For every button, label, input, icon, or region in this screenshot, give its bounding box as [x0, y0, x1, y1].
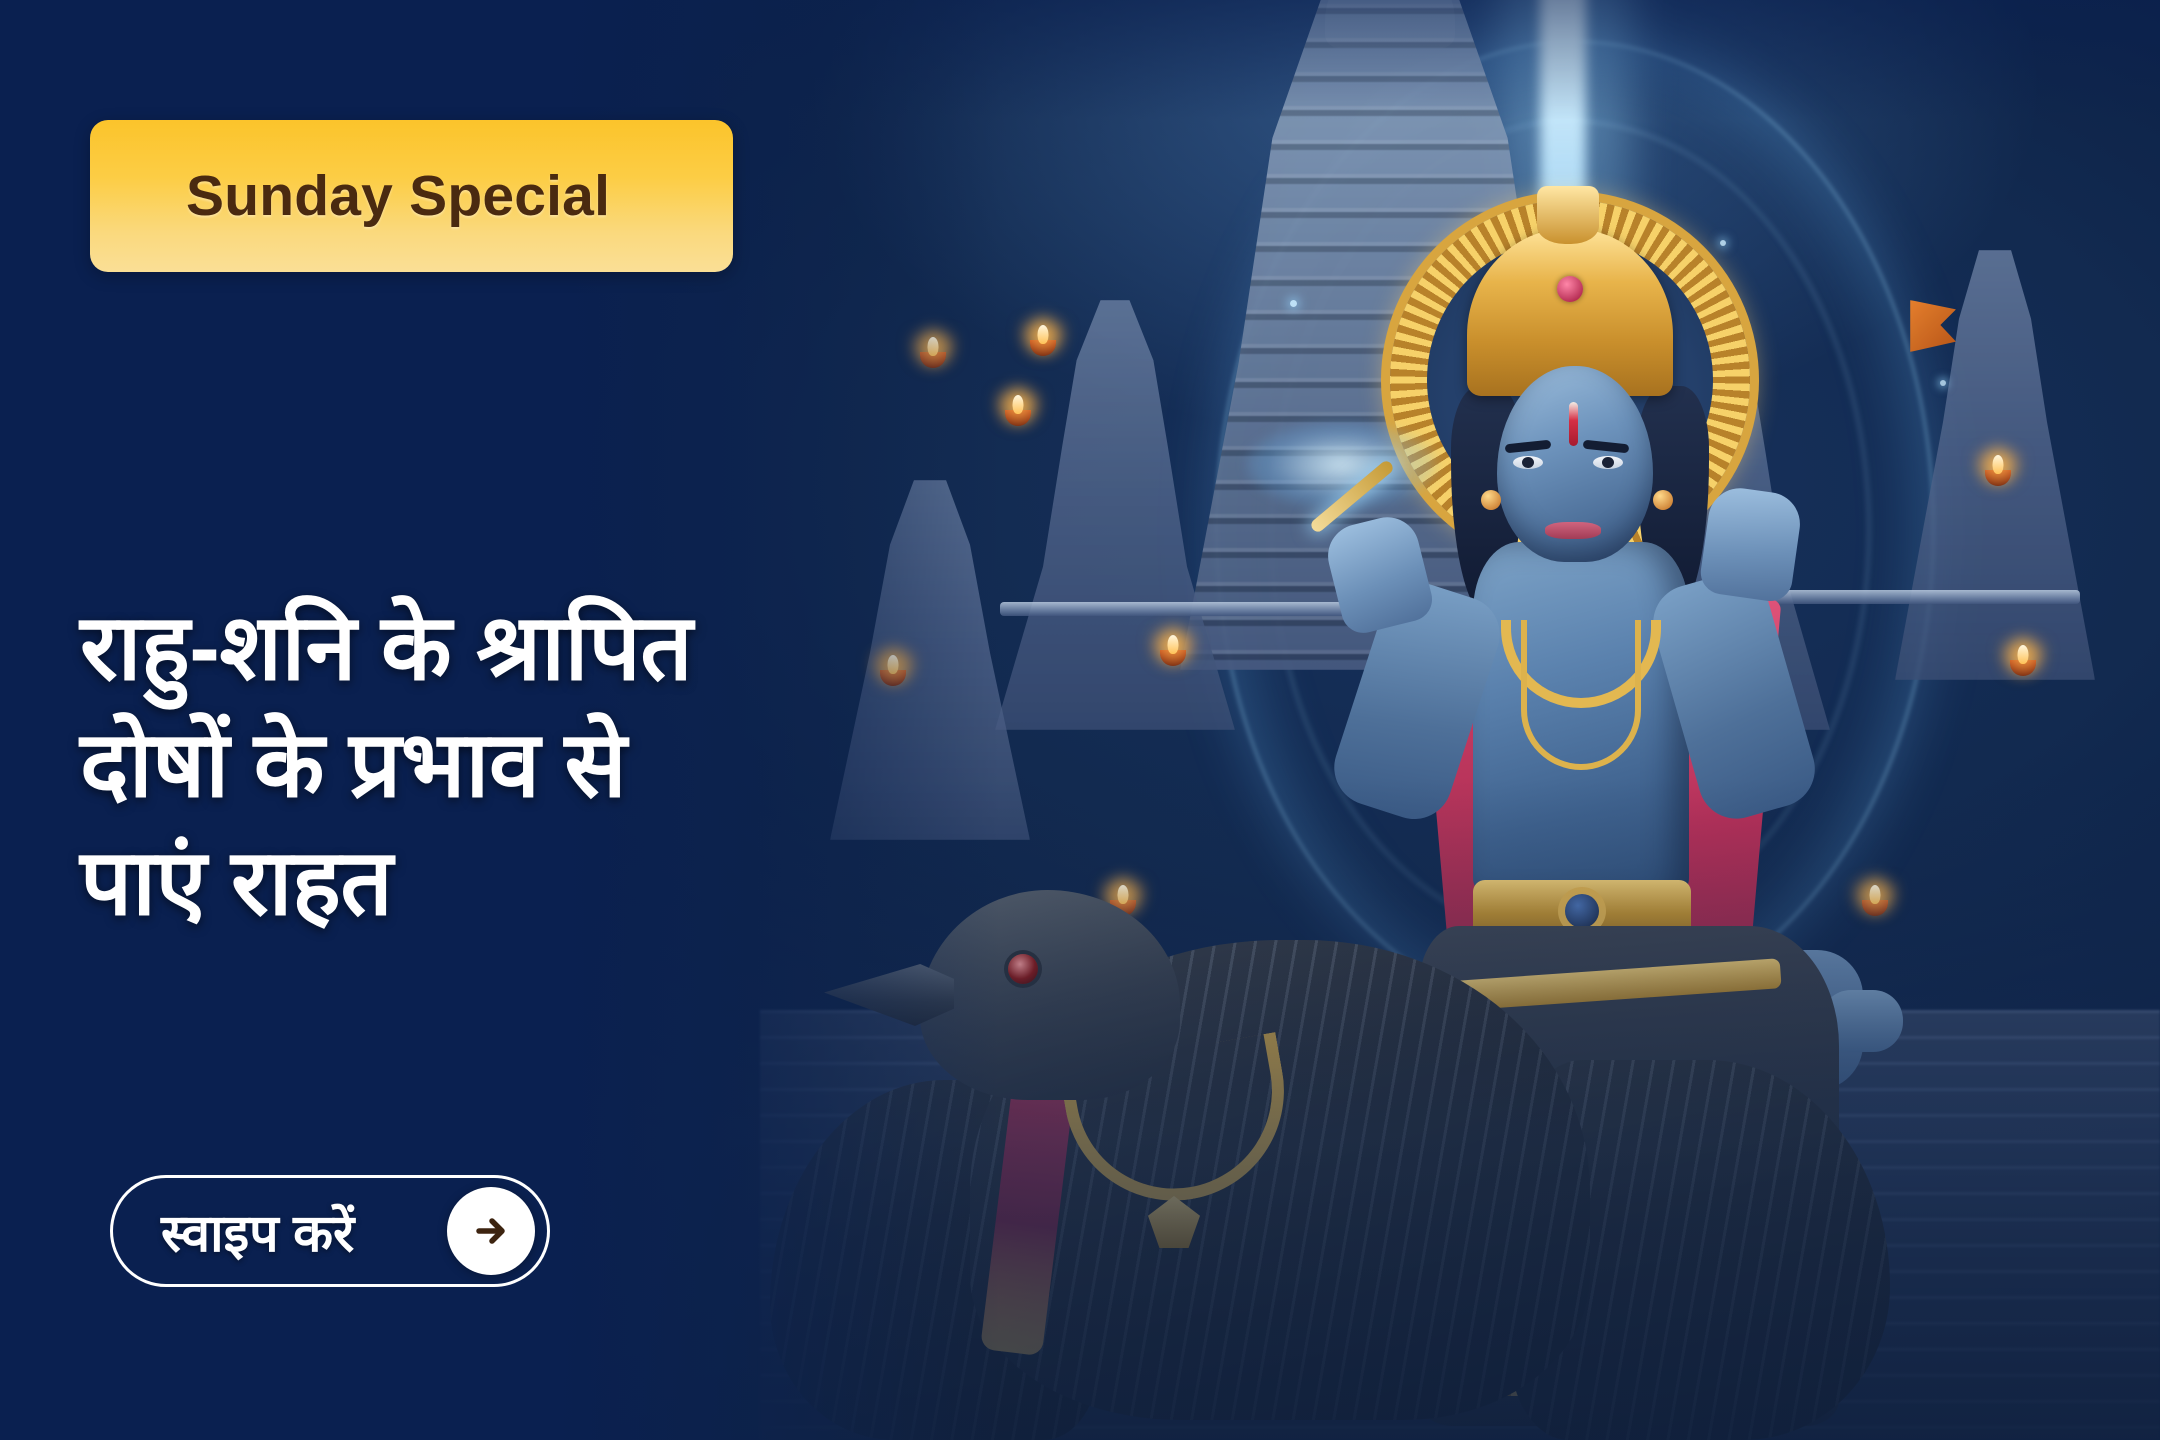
swipe-cta-button[interactable]: स्वाइप करें [110, 1175, 550, 1287]
story-card: Sunday Special राहु-शनि के श्रापित दोषों… [0, 0, 2160, 1440]
headline-line-3: पाएं राहत [80, 825, 940, 943]
headline-line-1: राहु-शनि के श्रापित [80, 590, 940, 708]
page-title: राहु-शनि के श्रापित दोषों के प्रभाव से प… [80, 590, 940, 943]
tilak-mark [1569, 402, 1578, 446]
crown-finial [1537, 186, 1599, 244]
swipe-cta-label: स्वाइप करें [161, 1196, 354, 1267]
earring-left [1481, 490, 1501, 510]
badge-label: Sunday Special [186, 163, 610, 229]
content-panel: Sunday Special राहु-शनि के श्रापित दोषों… [0, 0, 1000, 1440]
deity-eye-left [1513, 456, 1543, 469]
swipe-cta-circle[interactable] [447, 1187, 535, 1275]
deity-mouth [1545, 522, 1601, 539]
deity-hand-right [1698, 484, 1804, 604]
earring-right [1653, 490, 1673, 510]
sunday-special-badge: Sunday Special [90, 120, 733, 272]
headline-line-2: दोषों के प्रभाव से [80, 707, 940, 825]
deity-eye-right [1593, 456, 1623, 469]
deity-hand-left [1321, 510, 1436, 637]
gold-necklace-inner [1521, 620, 1641, 770]
arrow-right-icon [468, 1208, 514, 1254]
